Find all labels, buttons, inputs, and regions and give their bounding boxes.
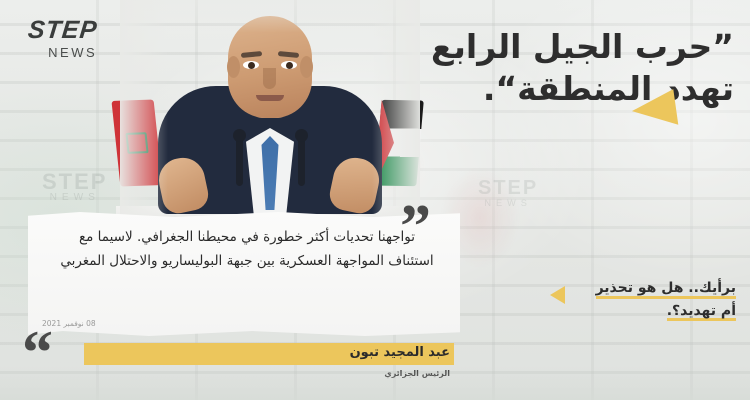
speaker-role: الرئيس الجزائري [330,369,450,378]
microphone-right [298,138,305,186]
ear-left [227,56,240,78]
watermark-sub-text: NEWS [42,193,107,204]
watermark-main-text: STEP [478,177,538,199]
quote-paper-card: تواجهنا تحديات أكثر خطورة في محيطنا الجغ… [28,212,460,336]
mouth [256,95,284,101]
step-news-watermark-left: STEP NEWS [42,170,107,204]
step-news-logo: STEP NEWS [28,18,97,59]
logo-sub-text: NEWS [48,46,97,59]
watermark-main-text: STEP [42,169,107,194]
quote-text: تواجهنا تحديات أكثر خطورة في محيطنا الجغ… [56,226,438,273]
question-line-2: أم تهديد؟. [667,301,736,324]
step-news-watermark-center: STEP NEWS [478,178,538,209]
news-quote-card: STEP NEWS STEP NEWS STEP NEWS ”حرب [0,0,750,400]
headline-line-2: تهدد المنطقة“. [386,68,734,110]
question-triangle-arrow-icon [550,286,565,304]
quote-mark-open-icon: “ [22,322,49,384]
nose [263,68,276,89]
speaker-name: عبد المجيد تبون [300,345,450,360]
watermark-sub-text: NEWS [478,199,538,209]
microphone-left [236,138,243,186]
quote-date: 08 نوفمبر 2021 [42,319,96,328]
headline-line-1: ”حرب الجيل الرابع [386,26,734,68]
ear-right [300,56,313,78]
morocco-flag [111,100,162,187]
question-line-1: برأيك.. هل هو تحذير [596,278,736,301]
eye-right [281,61,297,69]
headline: ”حرب الجيل الرابع تهدد المنطقة“. [386,26,734,110]
speaker-photo [120,0,420,232]
logo-main-text: STEP [27,18,99,43]
quote-mark-close-icon: ” [400,196,427,258]
eye-left [243,61,259,69]
headline-triangle-accent-icon [630,89,679,131]
